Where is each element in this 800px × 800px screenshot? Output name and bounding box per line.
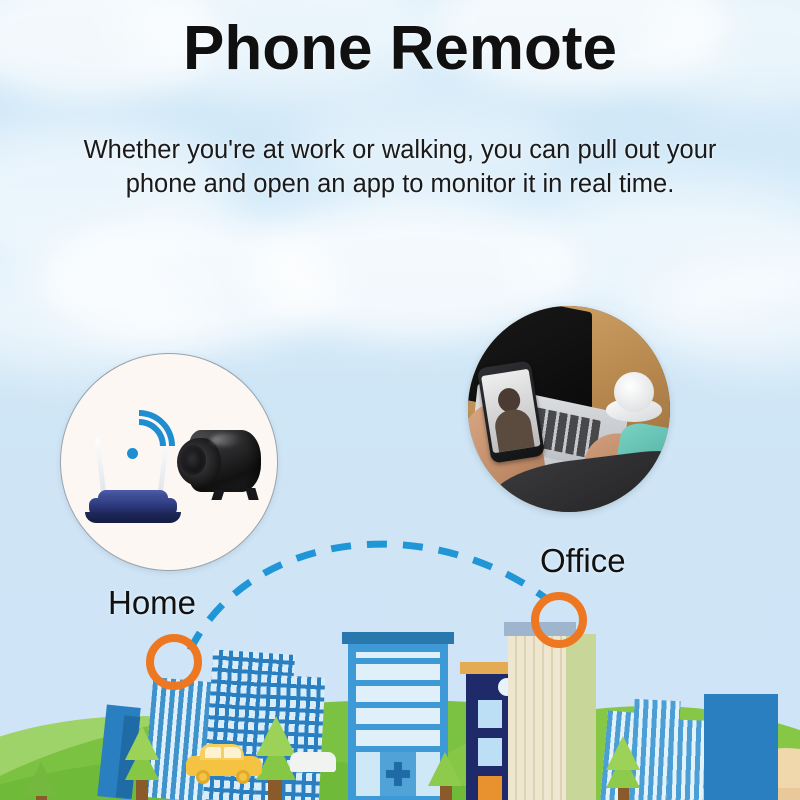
coffee-cup bbox=[614, 372, 654, 412]
tree-foliage bbox=[24, 762, 58, 796]
car-second bbox=[290, 752, 336, 772]
tree-foliage bbox=[428, 752, 462, 786]
device-photo-circle bbox=[60, 353, 278, 571]
wifi-signal-icon bbox=[101, 408, 177, 484]
page-title: Phone Remote bbox=[0, 16, 800, 81]
building-office-tower bbox=[508, 634, 566, 800]
wifi-signal-icon bbox=[127, 448, 138, 459]
hospital-floors bbox=[356, 652, 440, 746]
building-right-tall bbox=[704, 694, 778, 800]
map-pin-icon[interactable] bbox=[146, 634, 202, 690]
router-shadow bbox=[85, 512, 181, 523]
navy-window bbox=[478, 738, 502, 766]
office-label: Office bbox=[540, 542, 626, 580]
mini-security-camera-icon bbox=[171, 428, 269, 504]
video-feed-body bbox=[493, 407, 535, 452]
navy-window bbox=[478, 700, 502, 728]
home-label: Home bbox=[108, 584, 196, 622]
promo-image: Phone Remote Whether you're at work or w… bbox=[0, 0, 800, 800]
tree-foliage bbox=[606, 736, 640, 770]
camera-highlight bbox=[211, 434, 241, 446]
tree-foliage bbox=[125, 726, 159, 760]
phone-screen bbox=[481, 369, 541, 454]
hospital-roof bbox=[342, 632, 454, 644]
usage-photo-circle bbox=[468, 306, 670, 512]
page-subtitle: Whether you're at work or walking, you c… bbox=[60, 134, 740, 201]
cloud-shape bbox=[40, 215, 340, 350]
medical-cross-icon bbox=[386, 770, 410, 778]
camera-foot bbox=[245, 488, 258, 500]
tree-foliage bbox=[256, 716, 296, 756]
camera-foot bbox=[211, 490, 224, 500]
tree-trunk bbox=[136, 780, 148, 800]
wifi-router-icon bbox=[85, 416, 181, 526]
yellow-car-icon bbox=[186, 744, 262, 780]
camera-lens bbox=[180, 445, 206, 475]
map-pin-icon[interactable] bbox=[531, 592, 587, 648]
building-right-3 bbox=[667, 719, 706, 800]
navy-door bbox=[478, 776, 502, 800]
